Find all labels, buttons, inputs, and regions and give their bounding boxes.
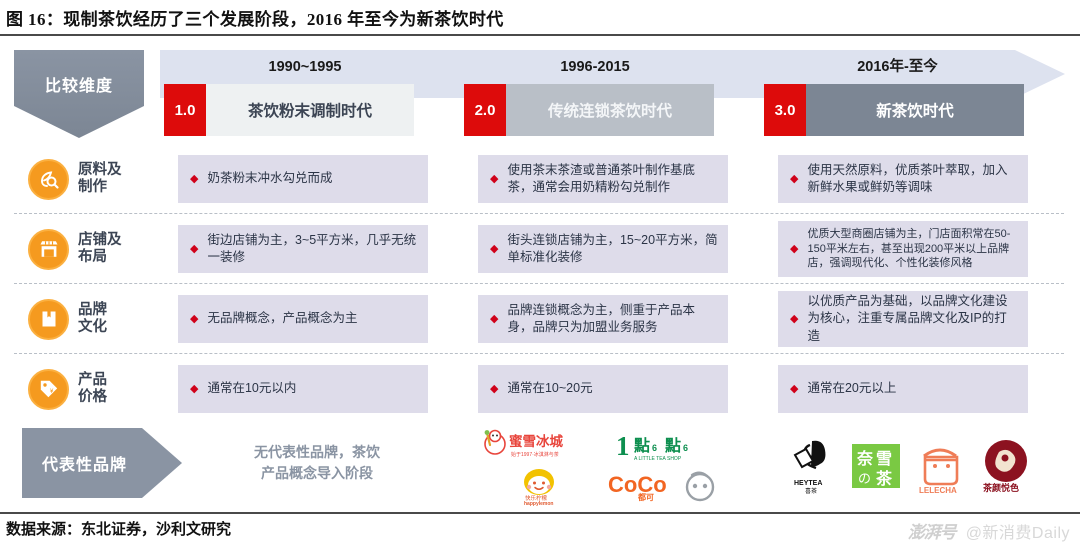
page-title: 图 16：现制茶饮经历了三个发展阶段，2016 年至今为新茶饮时代 [6,5,504,30]
svg-text:6: 6 [652,443,657,453]
stage2-brand-logos: 蜜雪冰城 始于1997·冰淇淋与茶 1 點 6 點 6 A LITTLE TEA… [474,426,734,506]
cell-text: 通常在10元以内 [207,380,296,397]
bullet-icon: ◆ [790,174,798,185]
svg-text:點: 點 [634,436,650,455]
watermark-handle: @新消费Daily [966,519,1070,543]
cell-price-stage3: ◆ 通常在20元以上 [778,365,1028,413]
svg-text:雪: 雪 [876,450,892,468]
stage-number-3: 3.0 [764,84,806,136]
cell-materials-stage2: ◆ 使用茶末茶渣或普通茶叶制作基底茶，通常会用奶精粉勾兑制作 [478,155,728,203]
stage-chip-1[interactable]: 1.0 茶饮粉末调制时代 [164,84,414,136]
svg-text:1: 1 [616,431,630,461]
cell-text: 使用天然原料，优质茶叶萃取，加入新鲜水果或鲜奶等调味 [807,162,1018,197]
stage-name-3: 新茶饮时代 [806,84,1024,136]
stage1-brand-note: 无代表性品牌，茶饮 产品概念导入阶段 [192,442,442,484]
stage-chip-3[interactable]: 3.0 新茶饮时代 [764,84,1024,136]
bullet-icon: ◆ [490,314,498,325]
brand-logo-happylemon[interactable]: 快乐柠檬 happylemon [474,466,604,506]
svg-text:HEYTEA: HEYTEA [794,480,822,487]
cell-text: 使用茶末茶渣或普通茶叶制作基底茶，通常会用奶精粉勾兑制作 [507,162,718,197]
watermark-logo: 澎湃号 [908,518,956,543]
row-header-store: 店铺及 布局 [14,214,164,284]
stage-name-1: 茶饮粉末调制时代 [206,84,414,136]
row-label-store: 店铺及 布局 [78,232,122,266]
storefront-icon [28,229,69,270]
row-header-price: ¥ 产品 价格 [14,354,164,424]
cell-text: 奶茶粉末冲水勾兑而成 [207,170,332,187]
svg-text:茶: 茶 [875,469,893,488]
stage3-brand-logos: HEYTEA 喜茶 奈 雪 の 茶 LELECHA [778,426,1040,506]
svg-text:都可: 都可 [637,492,654,502]
comparison-dimension-arrow: 比较维度 [14,50,144,138]
svg-text:茶颜悦色: 茶颜悦色 [982,482,1019,493]
svg-text:の: の [858,471,871,486]
stage-period-3: 2016年-至今 [765,56,1030,78]
svg-text:6: 6 [683,443,688,453]
bullet-icon: ◆ [190,384,198,395]
row-label-brand-culture: 品牌 文化 [78,302,107,336]
bullet-icon: ◆ [190,314,198,325]
cell-store-stage1: ◆ 街边店铺为主，3~5平方米，几乎无统一装修 [178,225,428,273]
svg-text:A LITTLE TEA SHOP: A LITTLE TEA SHOP [634,456,682,462]
cell-price-stage1: ◆ 通常在10元以内 [178,365,428,413]
row-header-materials: 原料及 制作 [14,144,164,214]
row-label-materials: 原料及 制作 [78,162,122,196]
bullet-icon: ◆ [190,244,198,255]
representative-brands-row: 代表性品牌 无代表性品牌，茶饮 产品概念导入阶段 蜜雪冰城 始于1997·冰淇淋… [14,424,1064,508]
title-divider [0,34,1080,36]
watermark: 澎湃号 @新消费Daily [908,518,1070,543]
svg-text:蜜雪冰城: 蜜雪冰城 [509,433,563,449]
cell-text: 通常在10~20元 [507,380,592,397]
svg-text:點: 點 [665,436,681,455]
cell-text: 以优质产品为基础，以品牌文化建设为核心，注重专属品牌文化及IP的打造 [807,293,1018,345]
bullet-icon: ◆ [490,384,498,395]
stage-period-1: 1990~1995 [175,56,435,78]
stage-period-2: 1996-2015 [465,56,725,78]
svg-text:happylemon: happylemon [524,501,553,506]
stage-number-2: 2.0 [464,84,506,136]
bullet-icon: ◆ [790,314,798,325]
svg-text:始于1997·冰淇淋与茶: 始于1997·冰淇淋与茶 [511,451,559,458]
stage-name-2: 传统连锁茶饮时代 [506,84,714,136]
cell-text: 品牌连锁概念为主，侧重于产品本身，品牌只为加盟业务服务 [507,302,718,337]
cell-text: 优质大型商圈店铺为主，门店面积常在50-150平米左右，甚至出现200平米以上品… [807,227,1018,272]
svg-text:喜茶: 喜茶 [805,487,817,495]
cell-materials-stage1: ◆ 奶茶粉末冲水勾兑而成 [178,155,428,203]
brand-logo-yidiandian[interactable]: 1 點 6 點 6 A LITTLE TEA SHOP [604,426,734,466]
representative-brands-arrow: 代表性品牌 [22,428,182,498]
matrix-row-materials: 原料及 制作 ◆ 奶茶粉末冲水勾兑而成 ◆ 使用茶末茶渣或普通茶叶制作基底茶，通… [14,144,1064,214]
matrix-row-store: 店铺及 布局 ◆ 街边店铺为主，3~5平方米，几乎无统一装修 ◆ 街头连锁店铺为… [14,214,1064,284]
cell-text: 通常在20元以上 [807,380,896,397]
cell-brand-culture-stage1: ◆ 无品牌概念，产品概念为主 [178,295,428,343]
cell-store-stage3: ◆ 优质大型商圈店铺为主，门店面积常在50-150平米左右，甚至出现200平米以… [778,221,1028,277]
cell-text: 街边店铺为主，3~5平方米，几乎无统一装修 [207,232,418,267]
leaf-magnifier-icon [28,159,69,200]
matrix-row-brand-culture: 品牌 文化 ◆ 无品牌概念，产品概念为主 ◆ 品牌连锁概念为主，侧重于产品本身，… [14,284,1064,354]
book-bookmark-icon [28,299,69,340]
cell-materials-stage3: ◆ 使用天然原料，优质茶叶萃取，加入新鲜水果或鲜奶等调味 [778,155,1028,203]
cell-store-stage2: ◆ 街头连锁店铺为主，15~20平方米，简单标准化装修 [478,225,728,273]
row-header-brand-culture: 品牌 文化 [14,284,164,354]
row-label-price: 产品 价格 [78,372,107,406]
price-tag-icon: ¥ [28,369,69,410]
figure-title-bar: 图 16：现制茶饮经历了三个发展阶段，2016 年至今为新茶饮时代 [0,0,1080,34]
cell-brand-culture-stage3: ◆ 以优质产品为基础，以品牌文化建设为核心，注重专属品牌文化及IP的打造 [778,291,1028,347]
svg-text:LELECHA: LELECHA [919,486,957,495]
brand-logo-lelecha[interactable]: LELECHA [908,429,973,503]
cell-price-stage2: ◆ 通常在10~20元 [478,365,728,413]
matrix-row-price: ¥ 产品 价格 ◆ 通常在10元以内 ◆ 通常在10~20元 ◆ 通常在20元以… [14,354,1064,424]
bullet-icon: ◆ [790,244,798,255]
cell-text: 无品牌概念，产品概念为主 [207,310,357,327]
comparison-dimension-label: 比较维度 [45,72,113,96]
source-note: 数据来源：东北证券，沙利文研究 [6,518,231,539]
footer-divider [0,512,1080,514]
svg-text:奈: 奈 [856,449,874,468]
brand-logo-chayanyuese[interactable]: 茶颜悦色 [973,429,1038,503]
brand-logo-heytea[interactable]: HEYTEA 喜茶 [778,429,843,503]
brand-logo-naixue[interactable]: 奈 雪 の 茶 [843,429,908,503]
cell-text: 街头连锁店铺为主，15~20平方米，简单标准化装修 [507,232,718,267]
bullet-icon: ◆ [490,244,498,255]
cell-brand-culture-stage2: ◆ 品牌连锁概念为主，侧重于产品本身，品牌只为加盟业务服务 [478,295,728,343]
representative-brands-label: 代表性品牌 [42,451,127,475]
bullet-icon: ◆ [490,174,498,185]
bullet-icon: ◆ [790,384,798,395]
brand-logo-mixue[interactable]: 蜜雪冰城 始于1997·冰淇淋与茶 [474,426,604,466]
stage-number-1: 1.0 [164,84,206,136]
bullet-icon: ◆ [190,174,198,185]
brand-logo-coco[interactable]: CoCo 都可 [604,466,734,506]
stage-chip-2[interactable]: 2.0 传统连锁茶饮时代 [464,84,714,136]
